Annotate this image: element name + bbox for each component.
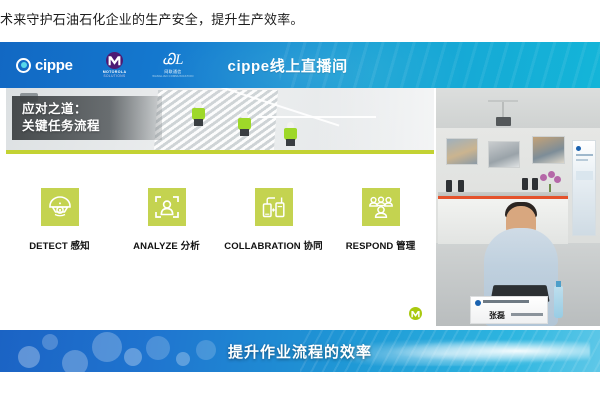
- slide-title-line-1: 应对之道：: [22, 101, 162, 118]
- motorola-m-icon: [106, 52, 123, 69]
- process-step-respond: RESPOND 管理: [331, 188, 431, 252]
- cippe-logo-text: cippe: [35, 57, 73, 74]
- motorola-solutions-subtext: SOLUTIONS: [104, 74, 126, 78]
- motorola-wordmark: MOTOROLA: [103, 70, 127, 74]
- bottom-caption-banner: 提升作业流程的效率: [0, 330, 600, 372]
- process-step-analyze: ANALYZE 分析: [117, 188, 217, 252]
- ceiling-mount-pole: [502, 102, 504, 118]
- process-step-label: ANALYZE 分析: [133, 238, 200, 252]
- dome-camera-icon: [41, 188, 79, 226]
- motorola-watermark-icon: [409, 307, 422, 320]
- presentation-slide: 应对之道： 关键任务流程: [6, 88, 434, 326]
- banner-fade-overlay: [314, 88, 434, 150]
- presenter-name-text: 张磊: [489, 310, 505, 321]
- radio-device: [522, 178, 528, 190]
- slide-title-plate: 应对之道： 关键任务流程: [12, 96, 162, 140]
- process-step-collabration: COLLABRATION 协同: [224, 188, 324, 252]
- wall-photo-frame: [446, 138, 478, 165]
- process-steps-row: DETECT 感知 ANALYZE 分析: [6, 188, 434, 252]
- radio-device: [446, 180, 452, 192]
- motorola-solutions-logo: MOTOROLA SOLUTIONS: [103, 52, 127, 79]
- radio-device: [532, 178, 538, 190]
- process-step-label: COLLABRATION 协同: [224, 238, 322, 252]
- broadcast-title: cippe线上直播间: [228, 55, 348, 76]
- partner-mark-icon: ᏊL: [162, 53, 183, 68]
- face-detect-icon: [148, 188, 186, 226]
- presenter-name-card: 张磊: [470, 296, 548, 324]
- wall-photo-frame: [488, 141, 520, 168]
- process-step-detect: DETECT 感知: [10, 188, 110, 252]
- process-step-label: DETECT 感知: [29, 238, 90, 252]
- slide-green-divider: [6, 150, 434, 154]
- worker-figure: [192, 102, 205, 122]
- ceiling-projector-icon: [496, 117, 511, 126]
- wall-photo-frame: [532, 136, 565, 164]
- cippe-ring-icon: [16, 58, 31, 73]
- radio-device: [458, 180, 464, 192]
- phone-radio-icon: [255, 188, 293, 226]
- rollup-banner: [572, 140, 596, 236]
- partner-logo: ᏊL 网联通信 WANGLIAN COMMUNICATION: [152, 53, 193, 78]
- player-content-area: 应对之道： 关键任务流程: [0, 88, 600, 330]
- video-player-stage: 术来守护石油石化企业的生产安全，提升生产效率。 cippe MOTOROLA S…: [0, 0, 600, 400]
- broadcast-header-bar: cippe MOTOROLA SOLUTIONS ᏊL 网联通信 WANGLIA…: [0, 42, 600, 88]
- partner-subtext: WANGLIAN COMMUNICATION: [152, 75, 193, 78]
- team-group-icon: [362, 188, 400, 226]
- process-step-label: RESPOND 管理: [346, 238, 416, 252]
- slide-banner-image: 应对之道： 关键任务流程: [6, 88, 434, 150]
- worker-figure: [238, 112, 251, 132]
- cippe-logo: cippe: [16, 57, 73, 74]
- article-paragraph-text: 术来守护石油石化企业的生产安全，提升生产效率。: [0, 6, 600, 34]
- worker-figure: [284, 122, 297, 142]
- slide-title-line-2: 关键任务流程: [22, 118, 162, 135]
- presenter-video-feed[interactable]: 张磊: [436, 88, 600, 326]
- room-ceiling: [436, 88, 600, 128]
- water-bottle: [554, 286, 563, 318]
- bottom-caption-text: 提升作业流程的效率: [0, 330, 600, 372]
